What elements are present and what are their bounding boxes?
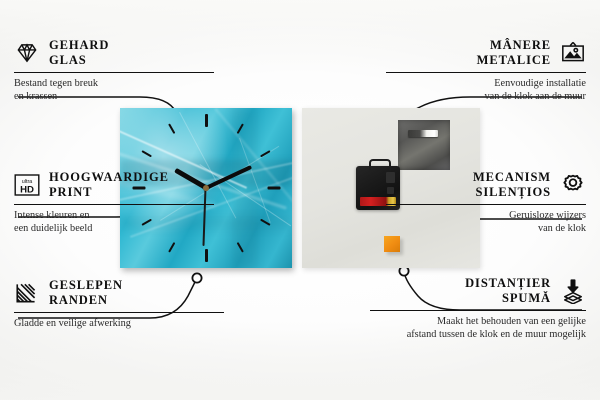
- ultra-hd-icon: ultra HD: [14, 172, 40, 198]
- gear-icon: [560, 172, 586, 198]
- callout-geslepen-randen: GESLEPEN RANDEN Gladde en veilige afwerk…: [14, 278, 224, 330]
- svg-text:HD: HD: [20, 184, 34, 195]
- callout-desc-line2: van de klok: [538, 223, 586, 234]
- callout-title-line1: MECANISM: [473, 170, 551, 184]
- callout-desc-line1: Bestand tegen breuk: [14, 78, 98, 89]
- diamond-icon: [14, 40, 40, 66]
- callout-title-line1: HOOGWAARDIGE: [49, 170, 169, 184]
- hanger-slot: [408, 130, 438, 137]
- callout-manere-metalice: MÂNERE METALICE Eenvoudige installatie v…: [386, 38, 586, 104]
- callout-desc-line2: en krassen: [14, 91, 57, 102]
- callout-title-line1: MÂNERE: [490, 38, 551, 52]
- callout-title-line2: RANDEN: [49, 293, 108, 307]
- callout-desc-line1: Eenvoudige installatie: [494, 78, 586, 89]
- callout-title-line1: DISTANȚIER: [465, 276, 551, 290]
- callout-rule: [14, 72, 214, 73]
- callout-desc-line2: afstand tussen de klok en de muur mogeli…: [407, 329, 586, 340]
- callout-desc-line2: een duidelijk beeld: [14, 223, 92, 234]
- infographic-canvas: GEHARD GLAS Bestand tegen breuk en krass…: [0, 0, 600, 400]
- callout-title-line1: GEHARD: [49, 38, 109, 52]
- callout-rule: [14, 204, 214, 205]
- callout-rule: [14, 312, 224, 313]
- callout-desc-line2: van de klok aan de muur: [484, 91, 586, 102]
- callout-desc-line1: Geruisloze wijzers: [509, 210, 586, 221]
- callout-title-line2: METALICE: [477, 53, 551, 67]
- callout-title-line2: SILENȚIOS: [476, 185, 552, 199]
- metal-hanger-plate: [398, 120, 450, 170]
- movement-hanger-tab: [369, 159, 391, 170]
- callout-hoogwaardige-print: ultra HD HOOGWAARDIGE PRINT Intense kleu…: [14, 170, 214, 236]
- callout-desc-line1: Gladde en veilige afwerking: [14, 318, 131, 329]
- hanging-picture-icon: [560, 40, 586, 66]
- callout-gehard-glas: GEHARD GLAS Bestand tegen breuk en krass…: [14, 38, 214, 104]
- spacer-stack-arrow-icon: [560, 278, 586, 304]
- callout-distantier-spuma: DISTANȚIER SPUMĂ Maakt het behouden van …: [370, 276, 586, 342]
- foam-spacer: [384, 236, 400, 252]
- callout-title-line2: GLAS: [49, 53, 87, 67]
- callout-rule: [386, 204, 586, 205]
- callout-rule: [386, 72, 586, 73]
- bevelled-edge-icon: [14, 280, 40, 306]
- callout-desc-line1: Maakt het behouden van een gelijke: [437, 316, 586, 327]
- callout-title-line2: SPUMĂ: [502, 291, 551, 305]
- callout-mecanism-silentios: MECANISM SILENȚIOS Geruisloze wijzers va…: [386, 170, 586, 236]
- callout-title-line1: GESLEPEN: [49, 278, 123, 292]
- callout-desc-line1: Intense kleuren en: [14, 210, 89, 221]
- callout-rule: [370, 310, 586, 311]
- callout-title-line2: PRINT: [49, 185, 92, 199]
